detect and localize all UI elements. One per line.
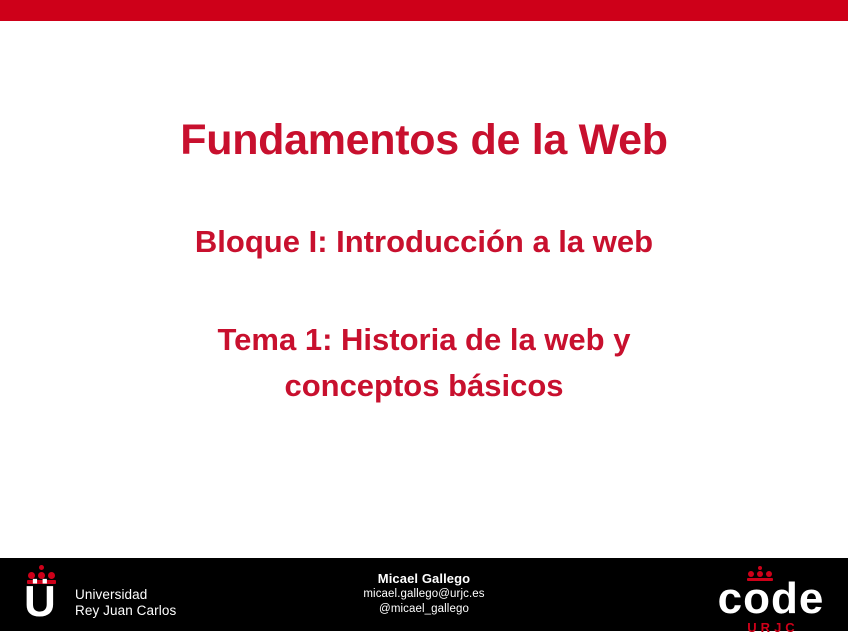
presentation-slide: Fundamentos de la Web Bloque I: Introduc…: [0, 0, 848, 635]
code-wordmark: code: [712, 579, 830, 619]
crown-dot-top: [39, 565, 44, 570]
code-crown-dot-left: [748, 571, 754, 577]
top-red-band: [0, 0, 848, 21]
slide-subtitle-topic: Tema 1: Historia de la web y conceptos b…: [164, 317, 684, 410]
code-crown-dot-right: [766, 571, 772, 577]
code-crown-dot-top: [758, 566, 762, 570]
code-urjc-logo: code URJC: [712, 566, 830, 635]
code-crown-dot-center: [757, 571, 763, 577]
slide-subtitle-block: Bloque I: Introducción a la web: [195, 224, 653, 260]
slide-main-title: Fundamentos de la Web: [180, 117, 667, 164]
code-crown-bar: [747, 578, 773, 581]
title-block: Fundamentos de la Web Bloque I: Introduc…: [0, 21, 848, 558]
code-crown-icon: [745, 566, 775, 582]
